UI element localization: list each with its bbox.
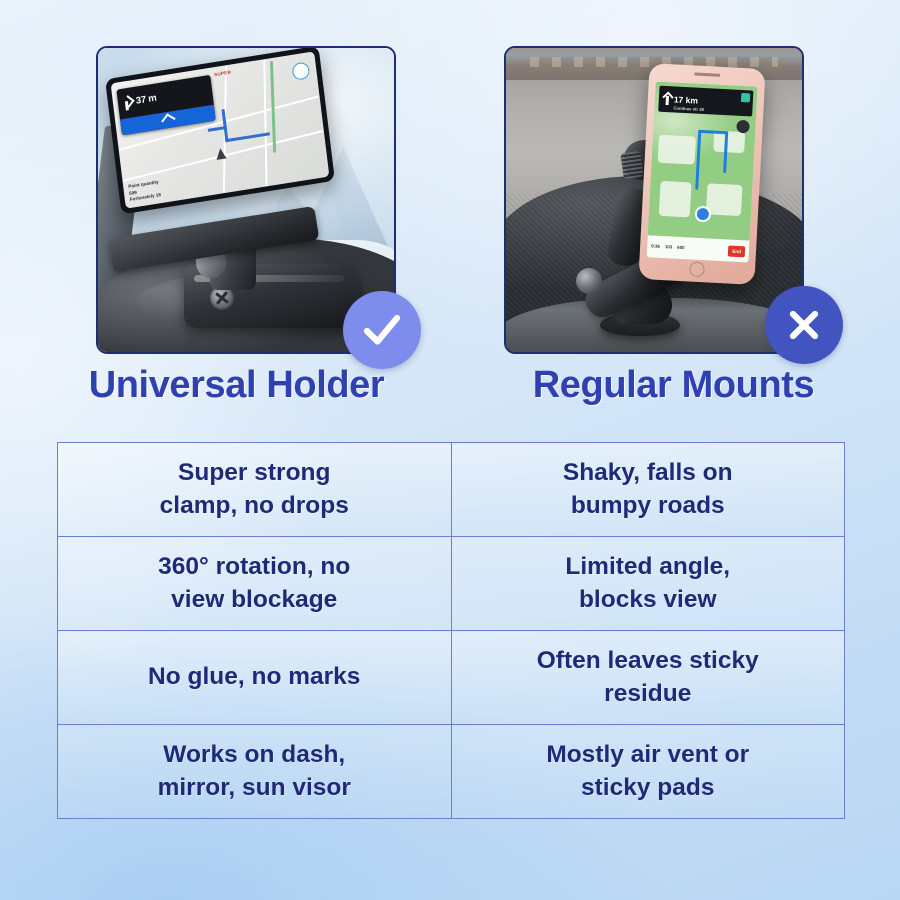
- cell-universal-holder: Super strongclamp, no drops: [58, 443, 452, 537]
- map-block: [713, 130, 745, 153]
- nav-distance: 37 m: [135, 94, 157, 107]
- bottom-bar-stat: 600: [677, 245, 685, 251]
- phone-earpiece: [694, 72, 720, 76]
- column-headings: Universal Holder Regular Mounts: [0, 366, 900, 424]
- heading-regular-mounts: Regular Mounts: [455, 366, 900, 424]
- bottom-bar-stat: 103: [665, 244, 673, 250]
- comparison-infographic: 37 m Unknown Wine Road SUPER Point quant…: [0, 0, 900, 900]
- map-block: [706, 183, 742, 216]
- turn-right-arrow-icon: [121, 96, 133, 111]
- cell-regular-mounts: Shaky, falls onbumpy roads: [451, 443, 845, 537]
- phone-screen-navigation: 17 km Continue str 38 9:36 103 600 End: [647, 81, 758, 262]
- end-navigation-button: End: [728, 245, 745, 257]
- nav-status-badge: [741, 93, 750, 102]
- ball-joint-ridges: [620, 151, 643, 180]
- cell-regular-mounts: Limited angle,blocks view: [451, 537, 845, 631]
- product-photo-regular-mounts: 17 km Continue str 38 9:36 103 600 End: [504, 46, 804, 354]
- comparison-table: Super strongclamp, no drops Shaky, falls…: [57, 442, 845, 819]
- map-block: [658, 134, 696, 164]
- map-position-marker: [215, 147, 226, 159]
- arm-adjust-knob-icon: [576, 268, 602, 294]
- check-icon: [359, 307, 405, 353]
- cross-badge: [765, 286, 843, 364]
- table-row: Works on dash,mirror, sun visor Mostly a…: [58, 725, 845, 819]
- cell-regular-mounts: Mostly air vent orsticky pads: [451, 725, 845, 819]
- table-row: No glue, no marks Often leaves stickyres…: [58, 631, 845, 725]
- cell-universal-holder: Works on dash,mirror, sun visor: [58, 725, 452, 819]
- mounted-phone: 17 km Continue str 38 9:36 103 600 End: [638, 63, 765, 285]
- navigation-bottom-bar: 9:36 103 600 End: [647, 235, 750, 262]
- map-block: [659, 180, 691, 217]
- close-icon: [782, 303, 826, 347]
- comparison-table-body: Super strongclamp, no drops Shaky, falls…: [58, 443, 845, 819]
- photo-scene-regular-mounts: 17 km Continue str 38 9:36 103 600 End: [506, 48, 802, 352]
- cell-universal-holder: 360° rotation, noview blockage: [58, 537, 452, 631]
- check-badge: [343, 291, 421, 369]
- phone-screen-navigation: 37 m Unknown Wine Road SUPER Point quant…: [111, 51, 330, 208]
- phone-home-button: [689, 261, 705, 277]
- cell-regular-mounts: Often leaves stickyresidue: [451, 631, 845, 725]
- nav-distance: 17 km: [674, 95, 699, 105]
- table-row: 360° rotation, noview blockage Limited a…: [58, 537, 845, 631]
- heading-universal-holder: Universal Holder: [0, 366, 455, 424]
- navigation-card: 17 km Continue str 38: [658, 86, 753, 117]
- bottom-bar-stat: 9:36: [651, 244, 660, 250]
- nav-street-name: Continue str 38: [673, 105, 704, 112]
- cell-universal-holder: No glue, no marks: [58, 631, 452, 725]
- table-row: Super strongclamp, no drops Shaky, falls…: [58, 443, 845, 537]
- turn-left-arrow-icon: [663, 93, 672, 105]
